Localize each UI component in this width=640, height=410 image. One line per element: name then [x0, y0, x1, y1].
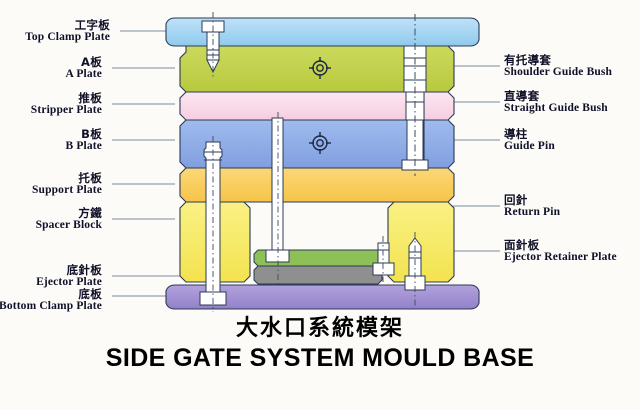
label-b-plate-cn: B板 — [66, 128, 103, 140]
plate-a-plate-right-block — [424, 46, 454, 92]
label-ejector-retainer-plate-cn: 面針板 — [504, 239, 617, 251]
label-spacer-block-cn: 方鐵 — [36, 207, 102, 219]
plate-ejector-plate — [254, 266, 382, 284]
label-return-pin: 回針 Return Pin — [504, 194, 560, 218]
diagram-title: 大水口系統模架 SIDE GATE SYSTEM MOULD BASE — [0, 318, 640, 371]
label-support-plate-cn: 托板 — [32, 172, 102, 184]
label-b-plate: B板 B Plate — [66, 128, 103, 152]
label-a-plate: A板 A Plate — [66, 56, 103, 80]
label-stripper-plate: 推板 Stripper Plate — [31, 92, 102, 116]
label-spacer-block-en: Spacer Block — [36, 219, 102, 231]
diagram-canvas: 工字板 Top Clamp Plate A板 A Plate 推板 Stripp… — [0, 0, 640, 410]
label-shoulder-guide-bush: 有托導套 Shoulder Guide Bush — [504, 54, 612, 78]
label-bottom-clamp-plate-en: Bottom Clamp Plate — [0, 300, 102, 312]
label-straight-guide-bush-cn: 直導套 — [504, 90, 608, 102]
label-bottom-clamp-plate-cn: 底板 — [0, 288, 102, 300]
label-support-plate: 托板 Support Plate — [32, 172, 102, 196]
plate-stripper-plate-right-block — [424, 92, 454, 120]
label-support-plate-en: Support Plate — [32, 184, 102, 196]
label-straight-guide-bush: 直導套 Straight Guide Bush — [504, 90, 608, 114]
label-ejector-plate: 底針板 Ejector Plate — [36, 264, 102, 288]
label-stripper-plate-cn: 推板 — [31, 92, 102, 104]
label-bottom-clamp-plate: 底板 Bottom Clamp Plate — [0, 288, 102, 312]
label-shoulder-guide-bush-cn: 有托導套 — [504, 54, 612, 66]
label-top-clamp-plate: 工字板 Top Clamp Plate — [25, 19, 110, 43]
label-guide-pin: 導柱 Guide Pin — [504, 128, 555, 152]
label-top-clamp-plate-en: Top Clamp Plate — [25, 31, 110, 43]
label-top-clamp-plate-cn: 工字板 — [25, 19, 110, 31]
label-a-plate-cn: A板 — [66, 56, 103, 68]
label-return-pin-cn: 回針 — [504, 194, 560, 206]
label-shoulder-guide-bush-en: Shoulder Guide Bush — [504, 66, 612, 78]
diagram-title-en: SIDE GATE SYSTEM MOULD BASE — [0, 346, 640, 371]
label-straight-guide-bush-en: Straight Guide Bush — [504, 102, 608, 114]
plate-support-plate — [180, 168, 454, 202]
label-guide-pin-cn: 導柱 — [504, 128, 555, 140]
label-guide-pin-en: Guide Pin — [504, 140, 555, 152]
plate-stripper-plate — [180, 92, 424, 120]
label-ejector-retainer-plate-en: Ejector Retainer Plate — [504, 251, 617, 263]
label-spacer-block: 方鐵 Spacer Block — [36, 207, 102, 231]
label-stripper-plate-en: Stripper Plate — [31, 104, 102, 116]
label-return-pin-en: Return Pin — [504, 206, 560, 218]
label-ejector-plate-cn: 底針板 — [36, 264, 102, 276]
label-a-plate-en: A Plate — [66, 68, 103, 80]
diagram-title-cn: 大水口系統模架 — [0, 318, 640, 340]
label-b-plate-en: B Plate — [66, 140, 103, 152]
label-ejector-retainer-plate: 面針板 Ejector Retainer Plate — [504, 239, 617, 263]
